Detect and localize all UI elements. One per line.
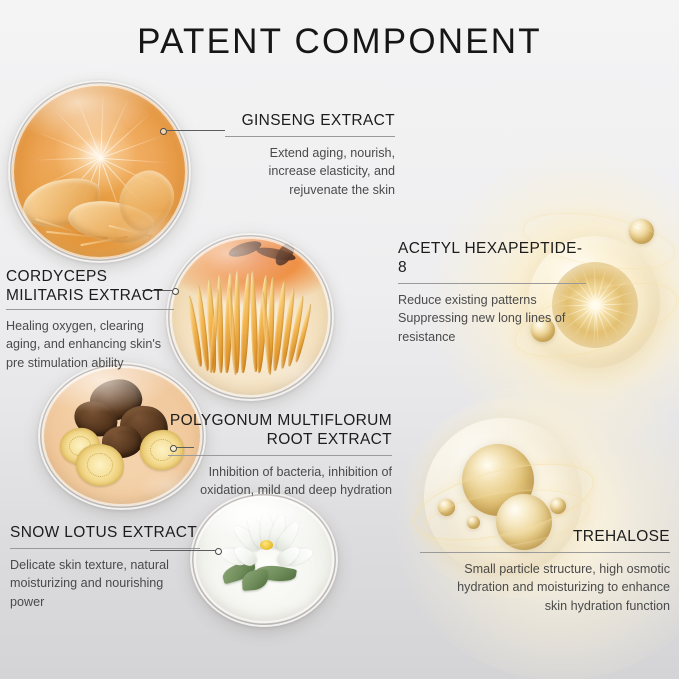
- snow-lotus-body: Delicate skin texture, natural moisturiz…: [10, 556, 200, 612]
- ginseng-liquid: [12, 84, 187, 259]
- snow-lotus-divider: [10, 548, 200, 549]
- trehalose-title: TREHALOSE: [420, 528, 670, 547]
- annotation-snow-lotus: SNOW LOTUS EXTRACT Delicate skin texture…: [10, 524, 200, 611]
- snow-lotus-marker-dot: [215, 548, 222, 555]
- ginseng-title: GINSENG EXTRACT: [225, 112, 395, 131]
- annotation-polygonum: POLYGONUM MULTIFLORUM ROOT EXTRACT Inhib…: [168, 412, 392, 500]
- polygonum-title: POLYGONUM MULTIFLORUM ROOT EXTRACT: [168, 412, 392, 450]
- cordyceps-divider: [6, 309, 174, 310]
- acetyl-hexapeptide-8-body: Reduce existing patterns Suppressing new…: [398, 291, 586, 347]
- annotation-trehalose: TREHALOSE Small particle structure, high…: [420, 528, 670, 615]
- annotation-cordyceps: CORDYCEPS MILITARIS EXTRACT Healing oxyg…: [6, 268, 174, 372]
- infographic-canvas: PATENT COMPONENT: [0, 0, 679, 679]
- acetyl-hexapeptide-8-divider: [398, 283, 586, 284]
- ginseng-divider: [225, 136, 395, 137]
- snow-lotus-title: SNOW LOTUS EXTRACT: [10, 524, 200, 543]
- ginseng-leader-line: [166, 130, 225, 131]
- lotus-cream: [194, 496, 334, 623]
- polygonum-divider: [168, 455, 392, 456]
- ginseng-body: Extend aging, nourish, increase elastici…: [225, 144, 395, 200]
- cordyceps-title: CORDYCEPS MILITARIS EXTRACT: [6, 268, 174, 306]
- page-title: PATENT COMPONENT: [0, 22, 679, 62]
- annotation-ginseng: GINSENG EXTRACT Extend aging, nourish, i…: [225, 112, 395, 199]
- trehalose-body: Small particle structure, high osmotic h…: [420, 560, 670, 616]
- cordyceps-liquid: [170, 237, 330, 397]
- lotus-center: [260, 540, 273, 550]
- ginseng-root-petri-dish: [8, 80, 191, 263]
- snow-lotus-petri-dish: [190, 492, 338, 627]
- acetyl-hexapeptide-8-title: ACETYL HEXAPEPTIDE-8: [398, 240, 586, 278]
- cordyceps-militaris-petri-dish: [166, 233, 334, 401]
- trehalose-divider: [420, 552, 670, 553]
- annotation-acetyl-hexapeptide-8: ACETYL HEXAPEPTIDE-8 Reduce existing pat…: [398, 240, 586, 346]
- polygonum-body: Inhibition of bacteria, inhibition of ox…: [168, 463, 392, 500]
- cordyceps-body: Healing oxygen, clearing aging, and enha…: [6, 317, 174, 373]
